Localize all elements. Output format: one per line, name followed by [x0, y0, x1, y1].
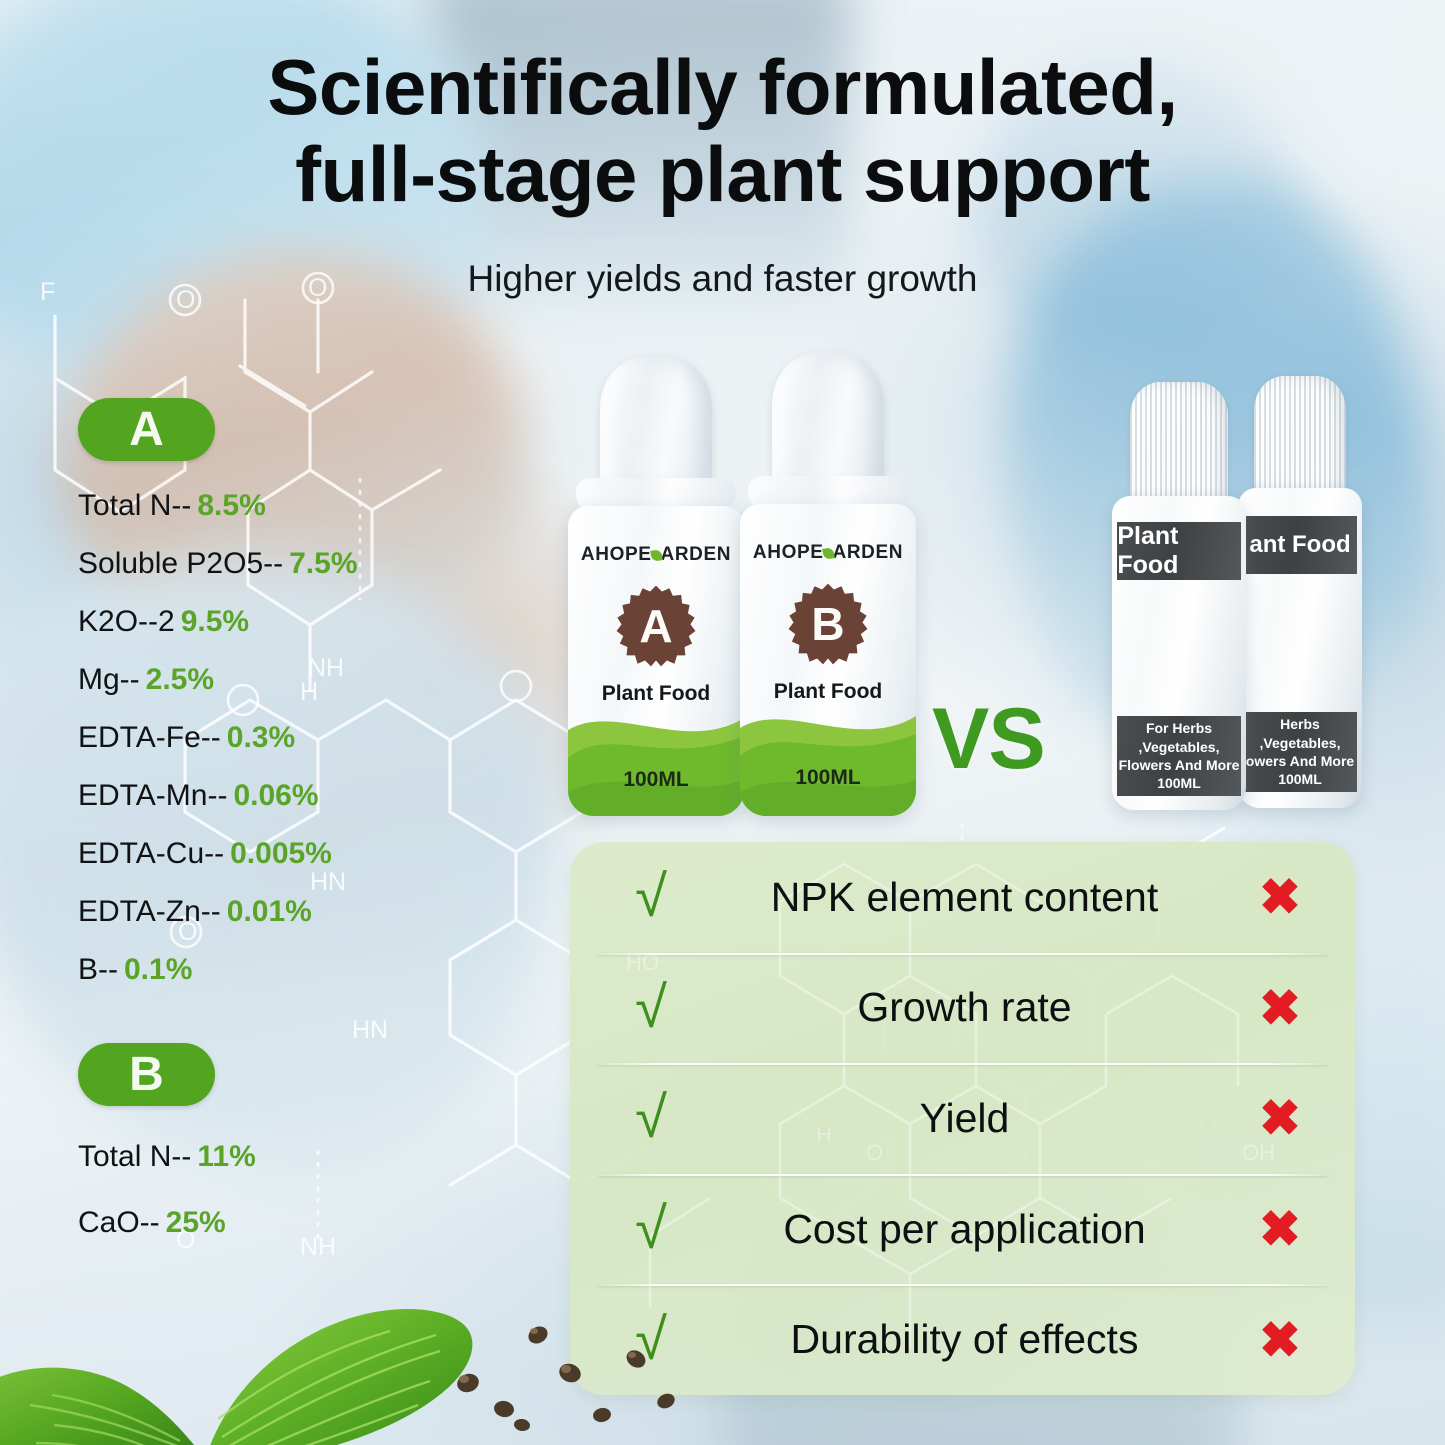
check-icon: √	[624, 979, 678, 1037]
seeds-image	[430, 1275, 690, 1435]
headline-line-2: full-stage plant support	[0, 131, 1445, 218]
page-title: Scientifically formulated, full-stage pl…	[0, 44, 1445, 219]
headline-line-1: Scientifically formulated,	[0, 44, 1445, 131]
vs-label: VS	[932, 690, 1045, 789]
bottle-a-body: AHOPEARDEN A Plant Food 100ML	[568, 506, 744, 816]
check-icon: √	[624, 1200, 678, 1258]
bottle-a-cap	[600, 356, 712, 488]
bottle-b-brand: AHOPEARDEN	[740, 542, 916, 564]
comparison-row: √ Growth rate ✖	[570, 953, 1355, 1064]
competitor-2-description: Herbs ,Vegetables, owers And More 100ML	[1243, 712, 1357, 792]
ingredient-value: 0.06%	[233, 779, 318, 813]
ingredient-name: Total N--	[78, 489, 191, 523]
brand-suffix: ARDEN	[661, 544, 732, 565]
formula-a-badge-label: A	[129, 402, 164, 457]
competitor-bottle-2: ant Food Herbs ,Vegetables, owers And Mo…	[1238, 376, 1362, 808]
check-icon: √	[624, 1089, 678, 1147]
bottle-a-volume: 100ML	[568, 768, 744, 792]
competitor-1-body: Plant Food For Herbs ,Vegetables, Flower…	[1112, 496, 1246, 810]
ingredient-row: Soluble P2O5-- 7.5%	[78, 535, 548, 593]
ingredient-value: 0.01%	[227, 895, 312, 929]
page-subtitle: Higher yields and faster growth	[0, 258, 1445, 300]
ingredient-panel: A Total N-- 8.5% Soluble P2O5-- 7.5% K2O…	[78, 398, 548, 1256]
cross-icon: ✖	[1251, 1315, 1309, 1365]
formula-a-badge: A	[78, 398, 215, 461]
competitor-2-desc-line2: owers And More	[1246, 752, 1354, 770]
ingredient-value: 2.5%	[146, 663, 214, 697]
bottle-b-badge: B	[786, 582, 870, 666]
formula-b-badge: B	[78, 1043, 215, 1106]
comparison-row: √ Cost per application ✖	[570, 1174, 1355, 1285]
ingredient-name: EDTA-Cu--	[78, 837, 224, 871]
ingredient-row: Total N-- 8.5%	[78, 477, 548, 535]
ingredient-name: B--	[78, 953, 118, 987]
comparison-row-label: Yield	[678, 1095, 1251, 1142]
ingredient-value: 8.5%	[197, 489, 265, 523]
bottle-a-badge-letter: A	[639, 599, 672, 653]
ingredient-row: EDTA-Mn-- 0.06%	[78, 767, 548, 825]
competitor-1-desc-line2: Flowers And More	[1119, 756, 1240, 774]
ingredient-row: EDTA-Zn-- 0.01%	[78, 883, 548, 941]
bottle-b-green-wave	[740, 694, 916, 816]
ingredient-value: 9.5%	[181, 605, 249, 639]
ingredient-row: K2O--2 9.5%	[78, 593, 548, 651]
ingredient-name: EDTA-Zn--	[78, 895, 221, 929]
ingredient-value: 7.5%	[289, 547, 357, 581]
product-bottle-a: AHOPEARDEN A Plant Food 100ML	[568, 356, 744, 816]
competitor-1-title: Plant Food	[1117, 522, 1240, 580]
bottle-b-body: AHOPEARDEN B Plant Food 100ML	[740, 504, 916, 816]
bottle-b-badge-letter: B	[811, 597, 844, 651]
ingredient-name: Mg--	[78, 663, 140, 697]
bottle-b-cap	[772, 352, 884, 486]
ingredient-value: 0.1%	[124, 953, 192, 987]
competitor-2-body: ant Food Herbs ,Vegetables, owers And Mo…	[1238, 488, 1362, 808]
comparison-row: √ Yield ✖	[570, 1063, 1355, 1174]
competitor-2-cap	[1254, 376, 1346, 492]
ingredient-name: EDTA-Fe--	[78, 721, 221, 755]
infographic-canvas: F O O H NH O HN HN O NH HO OH Scientific…	[0, 0, 1445, 1445]
brand-suffix: ARDEN	[833, 542, 904, 563]
ingredient-value: 0.005%	[230, 837, 332, 871]
comparison-row-label: Growth rate	[678, 984, 1251, 1031]
bottle-a-green-wave	[568, 696, 744, 816]
comparison-row: √ NPK element content ✖	[570, 842, 1355, 953]
ingredient-name: K2O--2	[78, 605, 175, 639]
competitor-1-volume: 100ML	[1157, 774, 1201, 792]
competitor-1-desc-line1: For Herbs ,Vegetables,	[1117, 719, 1240, 756]
comparison-row-label: Durability of effects	[678, 1316, 1251, 1363]
competitor-bottle-1: Plant Food For Herbs ,Vegetables, Flower…	[1112, 382, 1246, 810]
cross-icon: ✖	[1251, 983, 1309, 1033]
bottle-a-brand: AHOPEARDEN	[568, 544, 744, 566]
ingredient-name: Soluble P2O5--	[78, 547, 283, 581]
bottle-b-volume: 100ML	[740, 766, 916, 790]
competitor-1-cap	[1130, 382, 1228, 500]
product-bottle-b: AHOPEARDEN B Plant Food 100ML	[740, 352, 916, 816]
check-icon: √	[624, 868, 678, 926]
competitor-2-volume: 100ML	[1278, 770, 1322, 788]
formula-b-badge-label: B	[129, 1047, 164, 1102]
competitor-2-desc-line1: Herbs ,Vegetables,	[1243, 715, 1357, 752]
cross-icon: ✖	[1251, 872, 1309, 922]
brand-prefix: AHOPE	[753, 542, 824, 563]
comparison-row-label: NPK element content	[678, 874, 1251, 921]
ingredient-row: EDTA-Cu-- 0.005%	[78, 825, 548, 883]
cross-icon: ✖	[1251, 1093, 1309, 1143]
formula-a-list: Total N-- 8.5% Soluble P2O5-- 7.5% K2O--…	[78, 477, 548, 999]
comparison-row-label: Cost per application	[678, 1206, 1251, 1253]
ingredient-value: 0.3%	[227, 721, 295, 755]
competitor-2-title: ant Food	[1243, 516, 1357, 574]
cross-icon: ✖	[1251, 1204, 1309, 1254]
ingredient-name: EDTA-Mn--	[78, 779, 227, 813]
brand-prefix: AHOPE	[581, 544, 652, 565]
competitor-1-description: For Herbs ,Vegetables, Flowers And More …	[1117, 716, 1240, 796]
ingredient-row: B-- 0.1%	[78, 941, 548, 999]
ingredient-row: EDTA-Fe-- 0.3%	[78, 709, 548, 767]
ingredient-row: Mg-- 2.5%	[78, 651, 548, 709]
bottle-a-badge: A	[614, 584, 698, 668]
